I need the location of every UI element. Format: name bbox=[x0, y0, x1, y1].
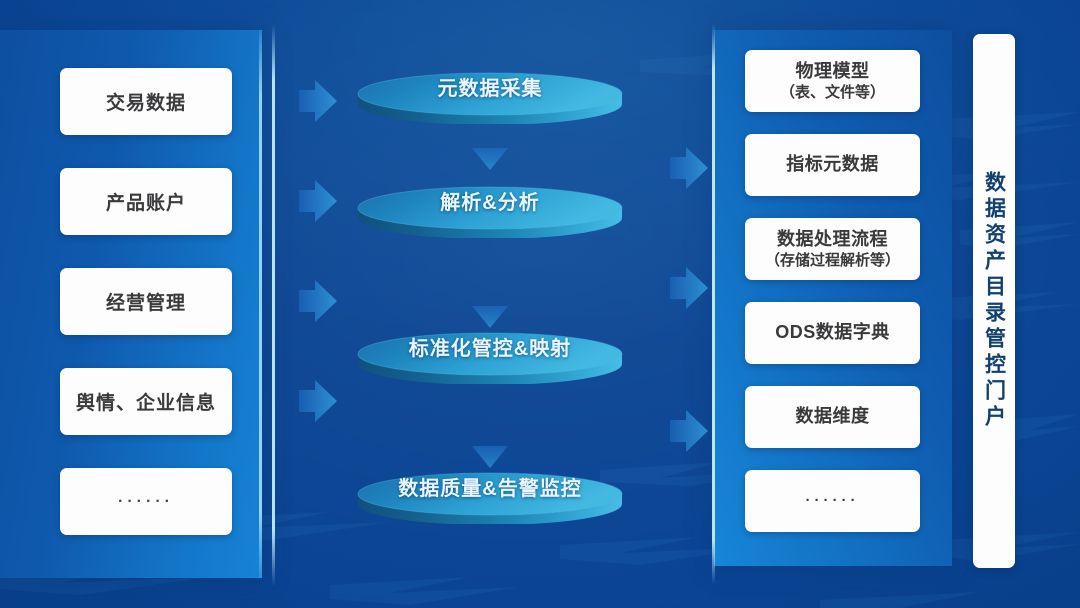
pipeline-stage-parse-analyze[interactable]: 解析&分析 bbox=[352, 182, 628, 243]
list-item-transaction-data[interactable]: 交易数据 bbox=[60, 68, 232, 135]
cylinder-shape bbox=[352, 328, 628, 384]
asset-item-data-processing-flow[interactable]: 数据处理流程 （存储过程解析等） bbox=[745, 218, 920, 280]
flow-arrow-right-3 bbox=[668, 408, 710, 454]
flow-arrow-right-1 bbox=[668, 145, 710, 191]
list-item-label: 经营管理 bbox=[106, 288, 186, 315]
list-item-label: ······ bbox=[118, 493, 174, 511]
pipeline-stages: 元数据采集 解析&分析 标准化管控&映射 数据质量&告警监控 bbox=[352, 0, 642, 608]
flow-arrow-left-2 bbox=[297, 178, 339, 224]
portal-banner[interactable]: 数据资产目录管控门户 bbox=[973, 34, 1015, 568]
list-item-label: 舆情、企业信息 bbox=[76, 388, 216, 415]
pipeline-down-arrow-2 bbox=[472, 306, 508, 328]
asset-item-data-dimension[interactable]: 数据维度 bbox=[745, 386, 920, 448]
list-item-product-account[interactable]: 产品账户 bbox=[60, 168, 232, 235]
asset-item-subtitle: （存储过程解析等） bbox=[765, 251, 900, 271]
metadata-asset-list: 物理模型 （表、文件等） 指标元数据 数据处理流程 （存储过程解析等） ODS数… bbox=[745, 50, 920, 554]
asset-item-title: 指标元数据 bbox=[786, 153, 879, 176]
asset-item-subtitle: （表、文件等） bbox=[780, 83, 885, 103]
pipeline-stage-metadata-collection[interactable]: 元数据采集 bbox=[352, 68, 628, 129]
flow-arrow-left-1 bbox=[297, 78, 339, 124]
list-item-public-opinion-enterprise-info[interactable]: 舆情、企业信息 bbox=[60, 368, 232, 435]
list-item-label: 产品账户 bbox=[106, 188, 186, 215]
pipeline-down-arrow-1 bbox=[472, 148, 508, 170]
list-item-business-management[interactable]: 经营管理 bbox=[60, 268, 232, 335]
asset-item-ods-data-dictionary[interactable]: ODS数据字典 bbox=[745, 302, 920, 364]
flow-arrow-left-4 bbox=[297, 378, 339, 424]
cylinder-shape bbox=[352, 68, 628, 124]
flow-arrow-right-2 bbox=[668, 265, 710, 311]
asset-item-more[interactable]: ······ bbox=[745, 470, 920, 532]
right-divider-rule bbox=[712, 24, 715, 584]
asset-item-physical-model[interactable]: 物理模型 （表、文件等） bbox=[745, 50, 920, 112]
asset-item-title: 数据维度 bbox=[796, 405, 870, 428]
left-divider-rule bbox=[272, 24, 275, 586]
asset-item-title: 数据处理流程 bbox=[777, 228, 888, 251]
pipeline-down-arrow-3 bbox=[472, 446, 508, 468]
cylinder-shape bbox=[352, 182, 628, 238]
cylinder-shape bbox=[352, 468, 628, 524]
list-item-label: 交易数据 bbox=[106, 88, 186, 115]
data-source-list: 交易数据 产品账户 经营管理 舆情、企业信息 ······ bbox=[60, 68, 232, 568]
asset-item-metric-metadata[interactable]: 指标元数据 bbox=[745, 134, 920, 196]
asset-item-title: 物理模型 bbox=[796, 60, 870, 83]
pipeline-stage-standardization-mapping[interactable]: 标准化管控&映射 bbox=[352, 328, 628, 389]
pipeline-stage-data-quality-alerting[interactable]: 数据质量&告警监控 bbox=[352, 468, 628, 529]
asset-item-title: ODS数据字典 bbox=[775, 321, 890, 344]
flow-arrow-left-3 bbox=[297, 278, 339, 324]
asset-item-title: ······ bbox=[806, 491, 860, 511]
list-item-more[interactable]: ······ bbox=[60, 468, 232, 535]
portal-banner-label: 数据资产目录管控门户 bbox=[984, 171, 1005, 431]
